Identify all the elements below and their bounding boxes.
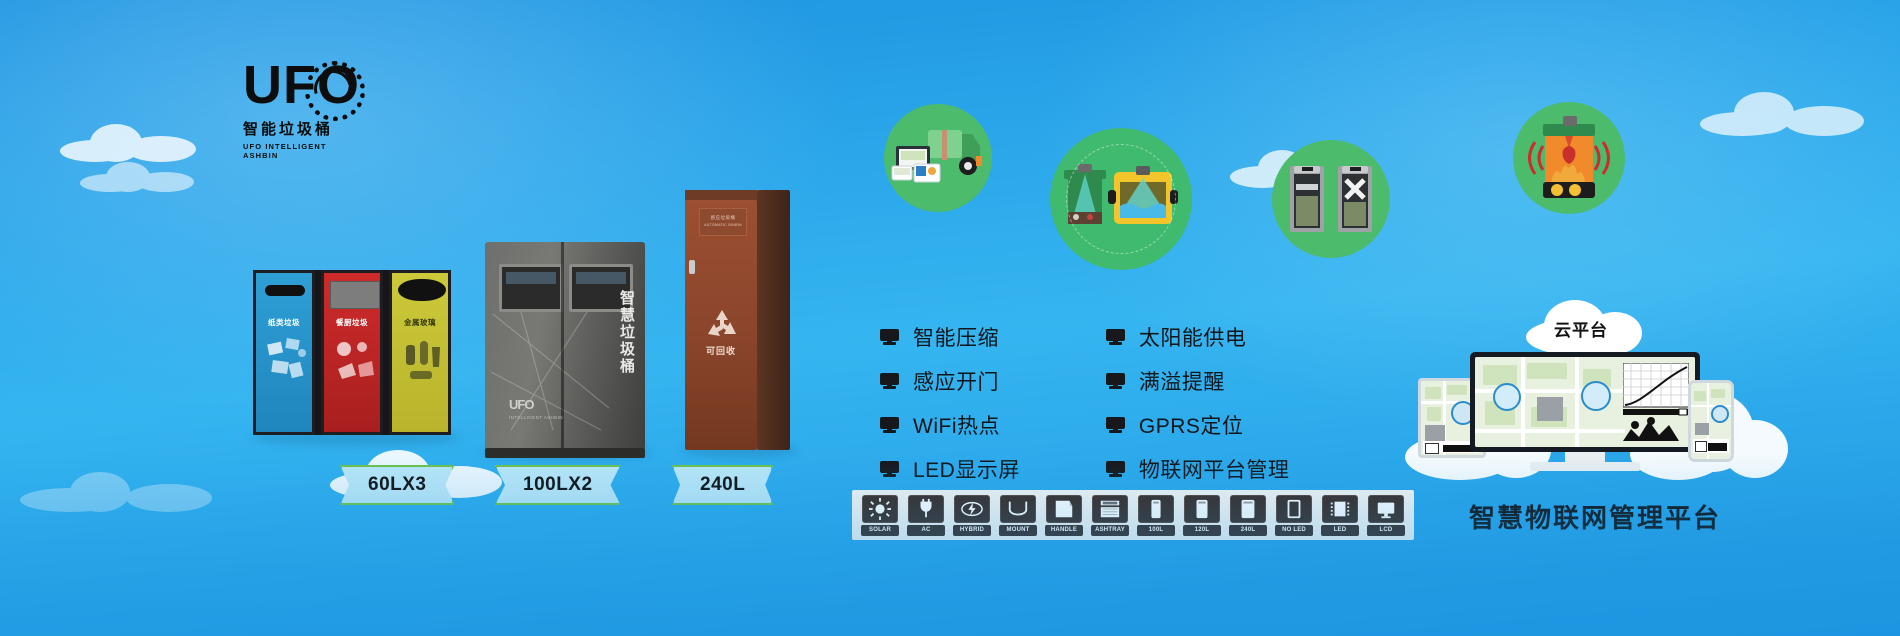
bin-compartment-kitchen: 餐厨垃圾 [321, 270, 383, 435]
monitor-foot [1530, 462, 1640, 471]
capacity-label-60lx3: 60LX3 [340, 465, 454, 505]
bin-slot [265, 285, 305, 296]
logo-wordmark: UFO [243, 58, 353, 116]
bin-front-panel: 感应垃圾桶 AUTOMATIC BINBIN 可回收 [685, 200, 757, 450]
spec-label: SOLAR [861, 525, 899, 536]
logo-name-en: UFO INTELLIGENT ASHBIN [243, 142, 353, 160]
bin-compartment-label: 餐厨垃圾 [324, 317, 380, 328]
feature-circle-fire-alarm [1513, 102, 1625, 214]
monitor-stand [1565, 452, 1605, 462]
bin-surface-pattern [491, 312, 611, 432]
spec-option-hybrid[interactable]: HYBRID [952, 495, 992, 536]
feature-item: 物联网平台管理 [1106, 454, 1290, 484]
monitor-icon [1106, 417, 1125, 433]
cloud-decoration [1700, 90, 1870, 138]
feature-label: 物联网平台管理 [1139, 454, 1290, 484]
feature-item: 感应开门 [880, 366, 1020, 396]
bin-brand-mark: UFO [509, 397, 533, 412]
feature-item: 智能压缩 [880, 322, 1020, 352]
capacity-label-240l: 240L [672, 465, 773, 505]
bin-opening-glass [506, 272, 556, 284]
monitor-icon [880, 329, 899, 345]
spec-option-solar[interactable]: SOLAR [860, 495, 900, 536]
spec-label: 120L [1183, 525, 1221, 536]
brand-logo: UFO 智能垃圾桶 UFO INTELLIGENT ASHBIN [243, 58, 353, 148]
monitor-frame [1470, 352, 1700, 452]
spec-option-no-led[interactable]: NO LED [1274, 495, 1314, 536]
bin-info-line1: 感应垃圾桶 [700, 215, 746, 221]
bin-opening-glass [576, 272, 626, 284]
garbage-truck-monitoring-icon [884, 104, 992, 212]
monitor-icon [880, 417, 899, 433]
bin-info-line2: AUTOMATIC BINBIN [700, 223, 746, 227]
monitor-icon [880, 373, 899, 389]
bin-base [485, 448, 645, 458]
sensor-dashed-ring [1066, 144, 1176, 254]
platform-title: 智慧物联网管理平台 [1430, 498, 1760, 535]
product-bin-240l: 感应垃圾桶 AUTOMATIC BINBIN 可回收 [685, 200, 790, 450]
cloud-decoration [80, 160, 200, 196]
feature-circle-compaction [1272, 140, 1390, 258]
bin-compartment-label: 纸类垃圾 [256, 317, 312, 328]
bin-slot-round [398, 279, 446, 301]
feature-label: LED显示屏 [913, 454, 1020, 484]
bin-side-panel [757, 190, 790, 450]
metal-glass-illustration [400, 335, 446, 387]
monitor-icon [1106, 329, 1125, 345]
feature-circle-fill-level [1050, 128, 1192, 270]
banner-canvas: UFO 智能垃圾桶 UFO INTELLIGENT ASHBIN 纸类垃圾 餐厨… [0, 0, 1900, 636]
capacity-label-100lx2: 100LX2 [495, 465, 621, 505]
feature-label: WiFi热点 [913, 410, 1000, 440]
feature-list: 智能压缩 感应开门 WiFi热点 LED显示屏 太阳能供电 满溢提醒 [880, 322, 1289, 484]
spec-option-ashtray[interactable]: ASHTRAY [1090, 495, 1130, 536]
dashboard-charts [1623, 363, 1689, 445]
spec-option-strip: SOLAR AC HYBRID MOUNT [852, 490, 1414, 540]
spec-option-100l[interactable]: 100L [1136, 495, 1176, 536]
spec-label: AC [907, 525, 945, 536]
bin-vertical-label: 智慧垃圾桶 [617, 290, 637, 375]
bin-info-panel: 感应垃圾桶 AUTOMATIC BINBIN [699, 208, 747, 236]
spec-label: NO LED [1275, 525, 1313, 536]
spec-label: HYBRID [953, 525, 991, 536]
product-bin-60lx3: 纸类垃圾 餐厨垃圾 金属玻璃 [253, 270, 453, 435]
monitor-icon [1106, 461, 1125, 477]
lcd-screen-icon [1368, 495, 1404, 523]
spec-option-ac[interactable]: AC [906, 495, 946, 536]
feature-label: 感应开门 [913, 366, 999, 396]
feature-item: 满溢提醒 [1106, 366, 1290, 396]
bin-recycle-label: 可回收 [685, 344, 757, 357]
spec-option-mount[interactable]: MOUNT [998, 495, 1038, 536]
bin-plate [330, 281, 380, 309]
feature-item: WiFi热点 [880, 410, 1020, 440]
feature-column-right: 太阳能供电 满溢提醒 GPRS定位 物联网平台管理 [1106, 322, 1290, 484]
sun-icon [862, 495, 898, 523]
spec-label: HANDLE [1045, 525, 1083, 536]
spec-label: 100L [1137, 525, 1175, 536]
spec-label: ASHTRAY [1091, 525, 1129, 536]
recycle-symbol-icon [705, 308, 739, 340]
bin-sensor-strip [689, 260, 695, 274]
spec-option-handle[interactable]: HANDLE [1044, 495, 1084, 536]
spec-label: LED [1321, 525, 1359, 536]
product-bin-100lx2: 智慧垃圾桶 UFO INTELLIGENT ASHBIN [485, 242, 645, 450]
compaction-bins-icon [1272, 140, 1390, 258]
paper-waste-illustration [264, 335, 310, 387]
bin-opening-left [499, 264, 563, 312]
fire-alarm-bin-icon [1513, 102, 1625, 214]
feature-label: 智能压缩 [913, 322, 999, 352]
feature-label: GPRS定位 [1139, 410, 1244, 440]
power-plug-icon [908, 495, 944, 523]
spec-label: MOUNT [999, 525, 1037, 536]
bin-compartment-metal-glass: 金属玻璃 [389, 270, 451, 435]
bin-100l-icon [1138, 495, 1174, 523]
kitchen-waste-illustration [332, 335, 378, 387]
led-panel-icon [1322, 495, 1358, 523]
ashtray-icon [1092, 495, 1128, 523]
feature-column-left: 智能压缩 感应开门 WiFi热点 LED显示屏 [880, 322, 1020, 484]
monitor-icon [880, 461, 899, 477]
monitor-screen [1475, 357, 1695, 447]
handle-icon [1046, 495, 1082, 523]
monitor-icon [1106, 373, 1125, 389]
spec-option-led[interactable]: LED [1320, 495, 1360, 536]
feature-item: 太阳能供电 [1106, 322, 1290, 352]
bin-brand-mark-sub: INTELLIGENT ASHBIN [509, 415, 563, 420]
spec-label: LCD [1367, 525, 1405, 536]
desktop-monitor [1470, 352, 1700, 472]
no-led-icon [1276, 495, 1312, 523]
feature-item: LED显示屏 [880, 454, 1020, 484]
feature-label: 满溢提醒 [1139, 366, 1225, 396]
bin-120l-icon [1184, 495, 1220, 523]
spec-label: 240L [1229, 525, 1267, 536]
logo-name-cn: 智能垃圾桶 [243, 118, 353, 139]
spec-option-120l[interactable]: 120L [1182, 495, 1222, 536]
hybrid-power-icon [954, 495, 990, 523]
wall-mount-icon [1000, 495, 1036, 523]
cloud-decoration [20, 470, 220, 514]
feature-circle-fleet-monitoring [884, 104, 992, 212]
bin-240l-icon [1230, 495, 1266, 523]
spec-option-240l[interactable]: 240L [1228, 495, 1268, 536]
bin-compartment-label: 金属玻璃 [392, 317, 448, 328]
bin-compartment-paper: 纸类垃圾 [253, 270, 315, 435]
feature-label: 太阳能供电 [1139, 322, 1247, 352]
spec-option-lcd[interactable]: LCD [1366, 495, 1406, 536]
smartphone-device [1688, 380, 1734, 462]
feature-item: GPRS定位 [1106, 410, 1290, 440]
cloud-platform-label-text: 云平台 [1516, 316, 1646, 341]
